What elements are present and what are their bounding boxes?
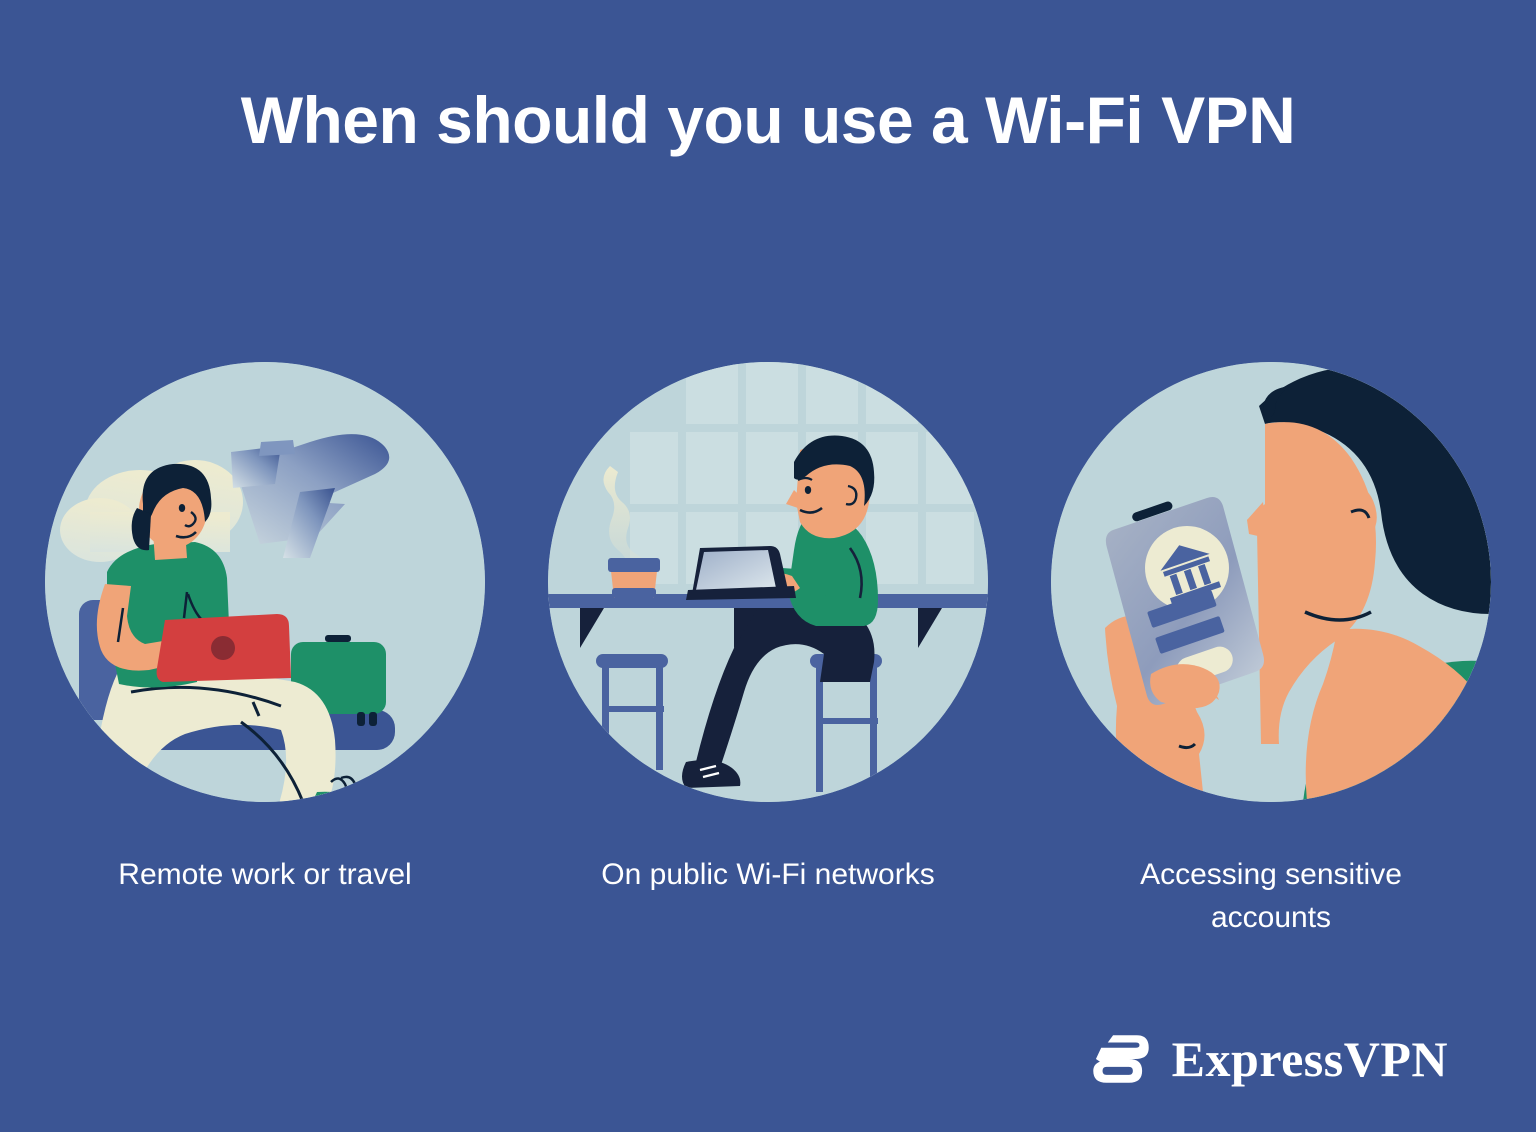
- panel-sensitive-accounts: Accessing sensitive accounts: [1051, 362, 1491, 939]
- remote-work-illustration-svg: [45, 362, 485, 802]
- laptop-shape: [157, 614, 291, 682]
- public-wifi-illustration-svg: [548, 362, 988, 802]
- panel-caption-remote-work-travel: Remote work or travel: [45, 854, 485, 897]
- infographic-page: When should you use a Wi-Fi VPN: [0, 0, 1536, 1132]
- coffee-cup: [608, 558, 660, 598]
- illustration-public-wifi: [548, 362, 988, 802]
- illustration-sensitive-accounts: [1051, 362, 1491, 802]
- panel-row: Remote work or travel: [0, 362, 1536, 939]
- panel-caption-sensitive-accounts: Accessing sensitive accounts: [1051, 854, 1491, 939]
- expressvpn-logo: ExpressVPN: [1088, 1026, 1448, 1092]
- page-title: When should you use a Wi-Fi VPN: [0, 86, 1536, 155]
- laptop-shape-2: [686, 546, 796, 600]
- panel-remote-work-travel: Remote work or travel: [45, 362, 485, 939]
- illustration-remote-work-travel: [45, 362, 485, 802]
- panel-public-wifi: On public Wi-Fi networks: [548, 362, 988, 939]
- expressvpn-wordmark: ExpressVPN: [1172, 1034, 1448, 1084]
- panel-caption-public-wifi: On public Wi-Fi networks: [548, 854, 988, 897]
- expressvpn-mark-icon: [1088, 1026, 1154, 1092]
- sensitive-accounts-illustration-svg: [1051, 362, 1491, 802]
